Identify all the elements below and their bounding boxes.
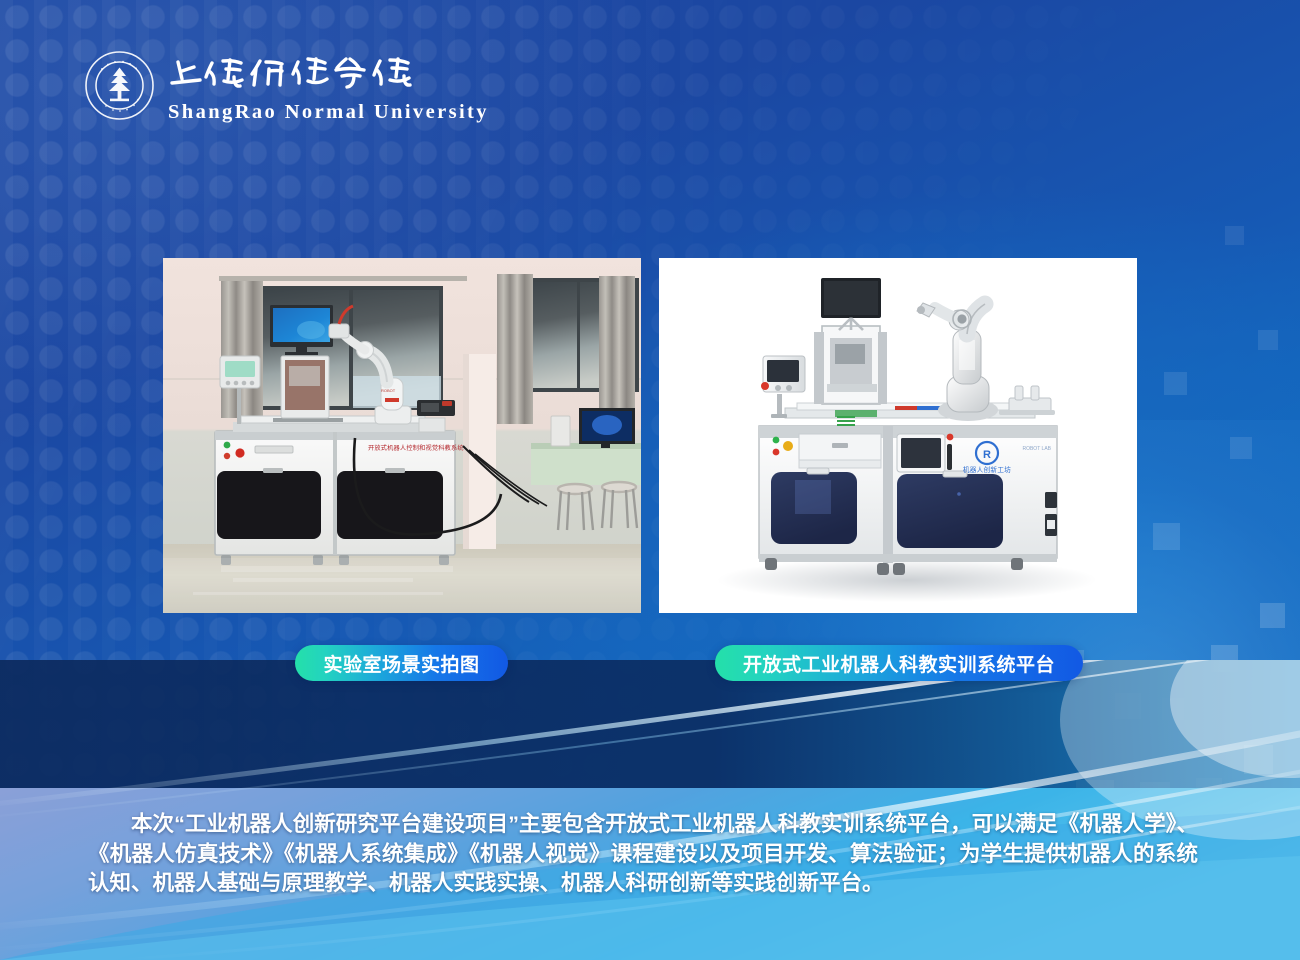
floating-square: [1258, 330, 1278, 350]
university-name-en: ShangRao Normal University: [168, 102, 489, 123]
floating-square: [1260, 603, 1285, 628]
university-logo: ShangRao Normal University: [84, 49, 489, 123]
training-platform-product-render: R 机器人创新工坊 ROBOT LAB: [659, 258, 1137, 613]
caption-training-platform[interactable]: 开放式工业机器人科教实训系统平台: [715, 645, 1083, 681]
floating-square: [1230, 437, 1252, 459]
poster-canvas: ShangRao Normal University: [0, 0, 1300, 960]
caption-laboratory-scene[interactable]: 实验室场景实拍图: [295, 645, 508, 681]
university-name-cn-wordmark: [168, 49, 489, 97]
svg-text:机器人创新工坊: 机器人创新工坊: [963, 465, 1011, 474]
laboratory-scene-photo: 开放式机器人控制和视觉科教系统: [163, 258, 641, 613]
project-description-text: 本次“工业机器人创新研究平台建设项目”主要包含开放式工业机器人科教实训系统平台，…: [88, 810, 1198, 899]
university-seal-icon: [84, 50, 155, 121]
floating-square: [1164, 372, 1187, 395]
floating-square: [1225, 226, 1244, 245]
floating-square: [1153, 523, 1180, 550]
svg-text:ROBOT: ROBOT: [381, 388, 396, 393]
svg-text:R: R: [983, 449, 991, 461]
svg-text:ROBOT LAB: ROBOT LAB: [1022, 446, 1051, 452]
svg-text:开放式机器人控制和视觉科教系统: 开放式机器人控制和视觉科教系统: [368, 444, 464, 452]
project-description: 本次“工业机器人创新研究平台建设项目”主要包含开放式工业机器人科教实训系统平台，…: [88, 810, 1198, 899]
